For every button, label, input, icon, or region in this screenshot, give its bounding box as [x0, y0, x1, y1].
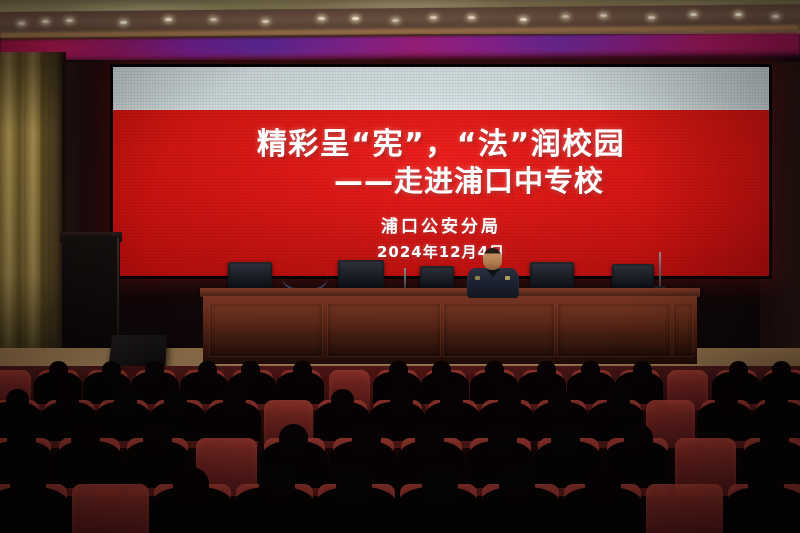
attendee-head [331, 389, 354, 410]
attendee-head [71, 424, 100, 451]
attendee-head [422, 467, 458, 500]
attendee-head [352, 424, 381, 451]
slide-title-line-1: 精彩呈“宪”，“法”润校园 [257, 128, 625, 162]
attendee-head [143, 424, 172, 451]
attendee-head [114, 389, 137, 410]
auditorium-photo: 精彩呈“宪”，“法”润校园 ——走进浦口中专校 浦口公安分局 2024年12月4… [0, 0, 800, 533]
presenter-insignia-left [475, 276, 480, 280]
table-front-panel [673, 303, 693, 357]
attendee-head [145, 361, 164, 378]
attendee-head [223, 389, 246, 410]
attendee-head [485, 361, 504, 378]
conference-table-front [203, 296, 697, 366]
attendee-head [241, 361, 260, 378]
slide-organization: 浦口公安分局 [381, 212, 501, 237]
attendee-head [765, 389, 788, 410]
attendee-head [6, 389, 29, 410]
attendee-head [415, 424, 444, 451]
attendee-head [729, 361, 748, 378]
recessed-downlight [735, 13, 742, 16]
attendee-head [49, 361, 68, 378]
attendee-head [7, 424, 36, 451]
table-front-panel [209, 303, 323, 357]
attendee-head [432, 361, 451, 378]
attendee-head [624, 424, 653, 451]
attendee-head [581, 361, 600, 378]
attendee-head [56, 389, 79, 410]
attendee-head [173, 467, 209, 500]
attendee-head [440, 389, 463, 410]
attendee-head [293, 361, 312, 378]
audience-row [0, 484, 800, 533]
attendee-head [389, 361, 408, 378]
slide-title-line-2: ——走进浦口中专校 [278, 165, 604, 197]
recessed-downlight [318, 17, 325, 20]
attendee-head [551, 424, 580, 451]
recessed-downlight [352, 17, 359, 20]
recessed-downlight [562, 15, 569, 18]
led-screen: 精彩呈“宪”，“法”润校园 ——走进浦口中专校 浦口公安分局 2024年12月4… [113, 67, 769, 276]
attendee-head [259, 467, 295, 500]
auditorium-seat [646, 484, 723, 533]
attendee-head [164, 389, 187, 410]
attendee-head [499, 467, 535, 500]
recessed-downlight [210, 18, 217, 21]
slide-content: 精彩呈“宪”，“法”润校园 ——走进浦口中专校 浦口公安分局 2024年12月4… [113, 110, 769, 276]
attendee-head [488, 424, 517, 451]
attendee-head [633, 361, 652, 378]
attendee-head [607, 389, 630, 410]
attendee-head [498, 389, 521, 410]
attendee-head [198, 361, 217, 378]
attendee-head [537, 361, 556, 378]
recessed-downlight [262, 20, 269, 23]
attendee-head [760, 424, 789, 451]
recessed-downlight [392, 19, 399, 22]
attendee-head [748, 467, 784, 500]
attendee-head [336, 467, 372, 500]
attendee-head [715, 389, 738, 410]
recessed-downlight [42, 20, 49, 23]
auditorium-seat [72, 484, 149, 533]
attendee-head [279, 424, 308, 451]
police-officer-presenter [466, 248, 520, 296]
recessed-downlight [430, 16, 437, 19]
attendee-head [102, 361, 121, 378]
presenter-insignia-right [505, 276, 510, 280]
slide-white-band [113, 67, 769, 110]
table-front-panel [557, 303, 671, 357]
audience-area [0, 366, 800, 533]
recessed-downlight [468, 16, 475, 19]
attendee-head [548, 389, 571, 410]
attendee-head [10, 467, 46, 500]
table-front-panel [443, 303, 555, 357]
recessed-downlight [520, 18, 527, 21]
attendee-head [390, 389, 413, 410]
table-front-panel [327, 303, 441, 357]
attendee-head [772, 361, 791, 378]
presenter-head [483, 248, 502, 270]
attendee-head [585, 467, 621, 500]
